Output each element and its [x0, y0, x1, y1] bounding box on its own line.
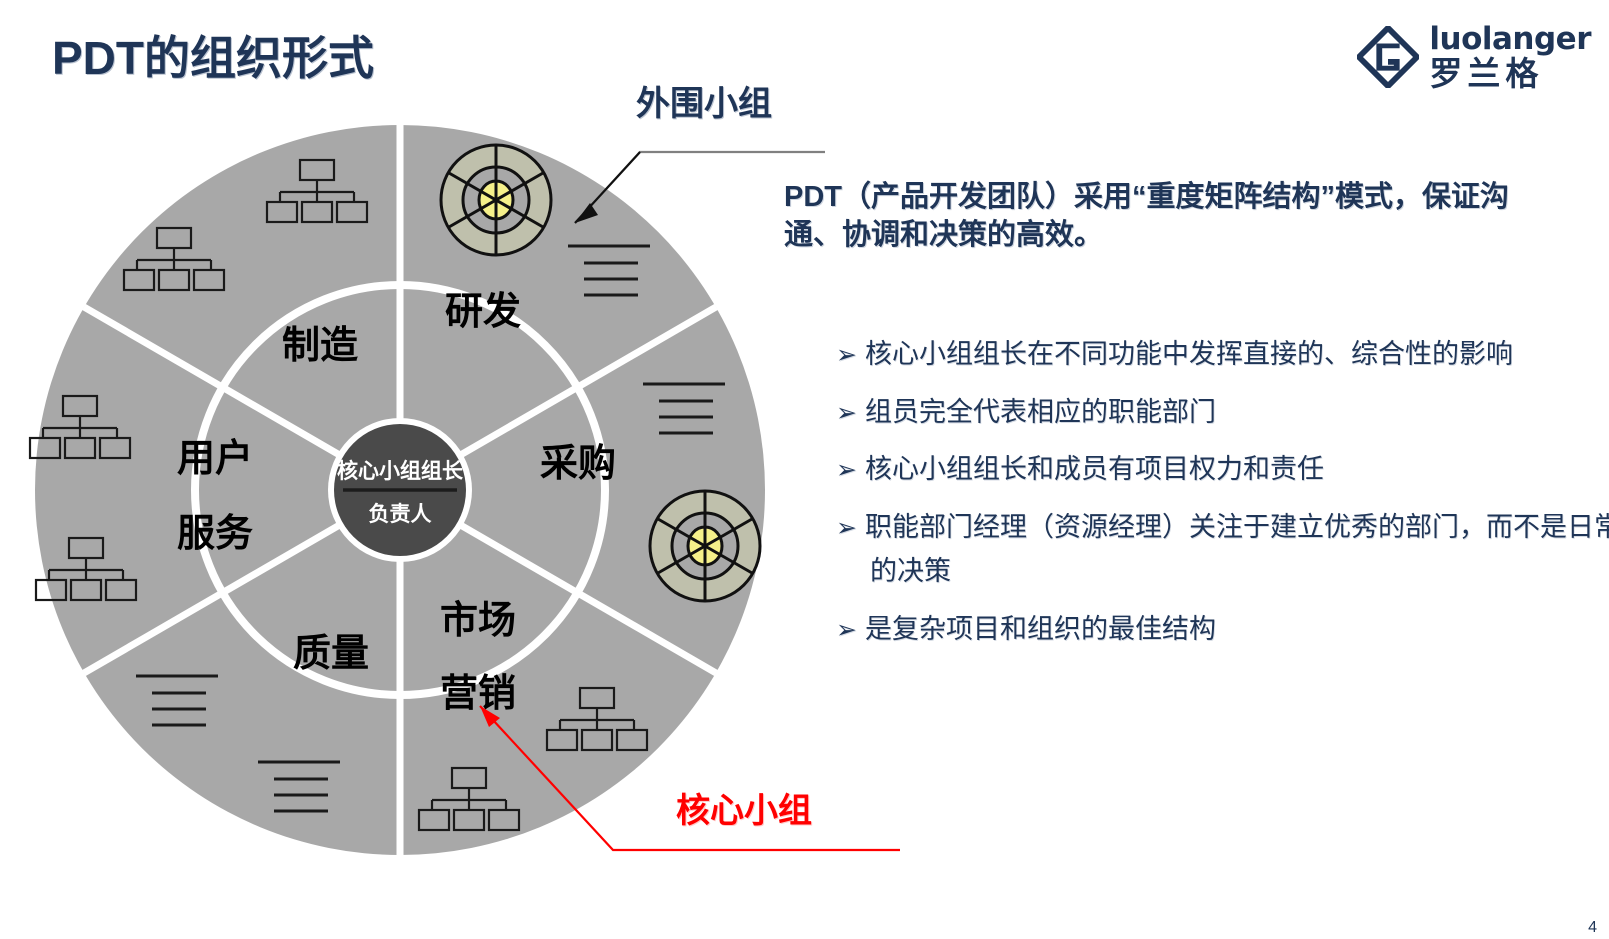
- callout-outer-group[interactable]: 外围小组: [636, 76, 772, 125]
- bullet-marker-icon: ➢: [836, 398, 865, 427]
- diamond-logo-icon: [1357, 26, 1419, 88]
- page-number: 4: [1588, 919, 1597, 937]
- list-item: ➢组员完全代表相应的职能部门: [836, 391, 1609, 435]
- sector-label-manufacturing[interactable]: 制造: [282, 325, 358, 367]
- brand-logo: luolanger 罗兰格: [1357, 24, 1591, 90]
- sector-label-cs-line1: 用户: [177, 438, 253, 480]
- sector-label-procurement[interactable]: 采购: [540, 443, 616, 485]
- sector-label-marketing-line1: 市场: [440, 600, 516, 642]
- sector-label-marketing-line2: 营销: [440, 673, 516, 715]
- logo-wordmark: luolanger 罗兰格: [1429, 24, 1591, 90]
- list-item-text: 是复杂项目和组织的最佳结构: [865, 614, 1216, 644]
- right-panel-heading: PDT（产品开发团队）采用“重度矩阵结构”模式，保证沟通、协调和决策的高效。: [784, 178, 1544, 255]
- outer-icon-radar-1: [441, 145, 551, 255]
- bullet-marker-icon: ➢: [836, 340, 865, 369]
- center-label-line2: 负责人: [369, 503, 432, 526]
- logo-chinese-text: 罗兰格: [1429, 57, 1591, 90]
- sector-label-rd[interactable]: 研发: [445, 291, 521, 333]
- callout-core-group[interactable]: 核心小组: [676, 783, 812, 832]
- sector-label-quality[interactable]: 质量: [293, 633, 369, 675]
- bullet-marker-icon: ➢: [836, 615, 865, 644]
- list-item-text: 核心小组组长和成员有项目权力和责任: [865, 454, 1324, 484]
- list-item: ➢核心小组组长在不同功能中发挥直接的、综合性的影响: [836, 333, 1609, 377]
- center-label-line1: 核心小组组长: [337, 459, 464, 483]
- outer-icon-radar-2: [650, 491, 760, 601]
- list-item: ➢是复杂项目和组织的最佳结构: [836, 608, 1609, 652]
- list-item: ➢核心小组组长和成员有项目权力和责任: [836, 448, 1609, 492]
- logo-latin-text: luolanger: [1429, 24, 1591, 55]
- bullet-marker-icon: ➢: [836, 455, 865, 484]
- sector-label-cs-line2: 服务: [177, 513, 253, 555]
- page-title: PDT的组织形式: [52, 22, 374, 88]
- list-item-text: 组员完全代表相应的职能部门: [865, 397, 1216, 427]
- list-item: ➢职能部门经理（资源经理）关注于建立优秀的部门，而不是日常的决策: [836, 506, 1609, 593]
- right-panel-bullets: ➢核心小组组长在不同功能中发挥直接的、综合性的影响 ➢组员完全代表相应的职能部门…: [836, 333, 1609, 665]
- list-item-text: 核心小组组长在不同功能中发挥直接的、综合性的影响: [865, 339, 1513, 369]
- bullet-marker-icon: ➢: [836, 513, 865, 542]
- list-item-text: 职能部门经理（资源经理）关注于建立优秀的部门，而不是日常的决策: [865, 512, 1609, 586]
